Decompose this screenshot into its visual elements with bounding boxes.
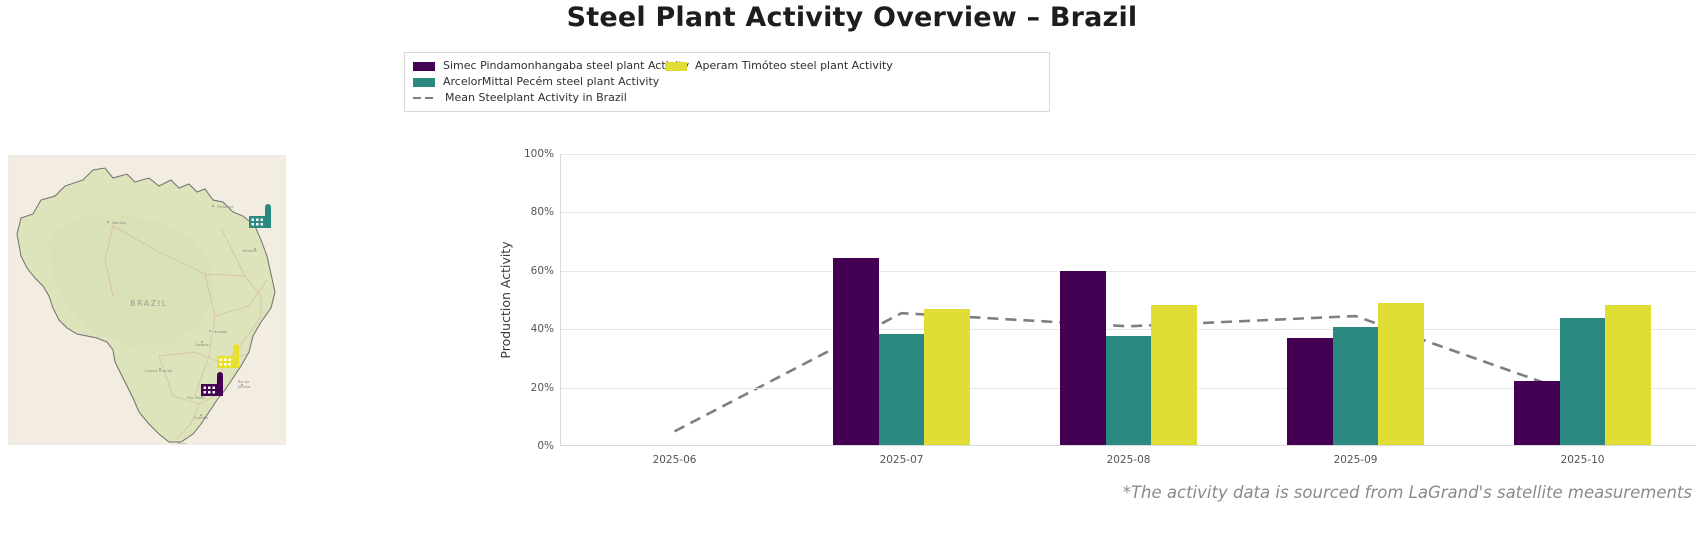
bar[interactable]: [879, 334, 924, 445]
legend-dashed-line-icon: [413, 94, 437, 103]
svg-text:Rio de: Rio de: [238, 380, 250, 384]
svg-text:Teresina: Teresina: [241, 249, 257, 253]
svg-text:Sao Paulo: Sao Paulo: [187, 396, 205, 400]
bar[interactable]: [1151, 305, 1196, 445]
legend-item-simec[interactable]: Simec Pindamonhangaba steel plant Activi…: [413, 59, 665, 73]
map-country-label: BRAZIL: [130, 299, 168, 308]
x-axis-tick-label: 2025-09: [1334, 454, 1378, 466]
y-axis-tick-label: 80%: [531, 206, 554, 218]
y-axis-tick-label: 20%: [531, 382, 554, 394]
y-axis-tick-label: 60%: [531, 265, 554, 277]
x-axis-tick-label: 2025-06: [653, 454, 697, 466]
bar[interactable]: [1605, 305, 1650, 445]
legend-label-simec: Simec Pindamonhangaba steel plant Activi…: [443, 60, 689, 72]
svg-text:Campo Grande: Campo Grande: [145, 369, 173, 373]
x-axis-tick-label: 2025-10: [1561, 454, 1605, 466]
bar[interactable]: [1560, 318, 1605, 445]
legend-swatch-aperam: [665, 62, 687, 71]
bar[interactable]: [1378, 303, 1423, 445]
legend-label-mean: Mean Steelplant Activity in Brazil: [445, 92, 627, 104]
svg-text:Porto: Porto: [177, 442, 186, 445]
legend-swatch-simec: [413, 62, 435, 71]
svg-text:Curitiba: Curitiba: [194, 416, 208, 420]
svg-text:Brasilia: Brasilia: [214, 330, 227, 334]
svg-text:Goiania: Goiania: [195, 343, 209, 347]
svg-text:Janeiro: Janeiro: [237, 385, 250, 389]
legend-column-1: Simec Pindamonhangaba steel plant Activi…: [413, 58, 665, 90]
legend-column-3: Mean Steelplant Activity in Brazil: [413, 90, 603, 106]
data-source-footnote: *The activity data is sourced from LaGra…: [1123, 483, 1692, 502]
x-axis-tick-label: 2025-07: [880, 454, 924, 466]
legend-column-2: Aperam Timóteo steel plant Activity: [665, 58, 855, 90]
x-axis-tick-label: 2025-08: [1107, 454, 1151, 466]
legend-label-arcelormittal: ArcelorMittal Pecém steel plant Activity: [443, 76, 659, 88]
y-axis-tick-label: 100%: [524, 148, 554, 160]
gridline: [561, 446, 1696, 447]
bar[interactable]: [1106, 336, 1151, 446]
gridline: [561, 329, 1696, 330]
gridline: [561, 212, 1696, 213]
legend-item-aperam[interactable]: Aperam Timóteo steel plant Activity: [665, 59, 855, 73]
brazil-map-svg: BRAZIL Manaus Fortaleza Teresina Brasili…: [9, 156, 286, 445]
legend-item-mean[interactable]: Mean Steelplant Activity in Brazil: [413, 91, 603, 105]
y-axis-label: Production Activity: [498, 241, 513, 358]
page-title: Steel Plant Activity Overview – Brazil: [0, 2, 1704, 33]
bar[interactable]: [924, 309, 969, 445]
gridline: [561, 271, 1696, 272]
bar[interactable]: [1287, 338, 1332, 445]
y-axis-tick-label: 0%: [537, 440, 554, 452]
chart-legend: Simec Pindamonhangaba steel plant Activi…: [404, 52, 1050, 112]
bar[interactable]: [833, 258, 878, 445]
plot-area: 0%20%40%60%80%100%2025-062025-072025-082…: [560, 154, 1696, 446]
y-axis-tick-label: 40%: [531, 323, 554, 335]
gridline: [561, 154, 1696, 155]
legend-label-aperam: Aperam Timóteo steel plant Activity: [695, 60, 893, 72]
legend-item-arcelormittal[interactable]: ArcelorMittal Pecém steel plant Activity: [413, 75, 665, 89]
activity-bar-chart: Production Activity 0%20%40%60%80%100%20…: [496, 140, 1696, 480]
svg-text:Fortaleza: Fortaleza: [217, 205, 234, 209]
legend-swatch-arcelormittal: [413, 78, 435, 87]
brazil-map-panel[interactable]: BRAZIL Manaus Fortaleza Teresina Brasili…: [8, 155, 286, 445]
bar[interactable]: [1333, 327, 1378, 445]
svg-text:Manaus: Manaus: [112, 221, 126, 225]
bar[interactable]: [1514, 381, 1559, 445]
page-root: Steel Plant Activity Overview – Brazil S…: [0, 0, 1704, 554]
bar[interactable]: [1060, 271, 1105, 445]
